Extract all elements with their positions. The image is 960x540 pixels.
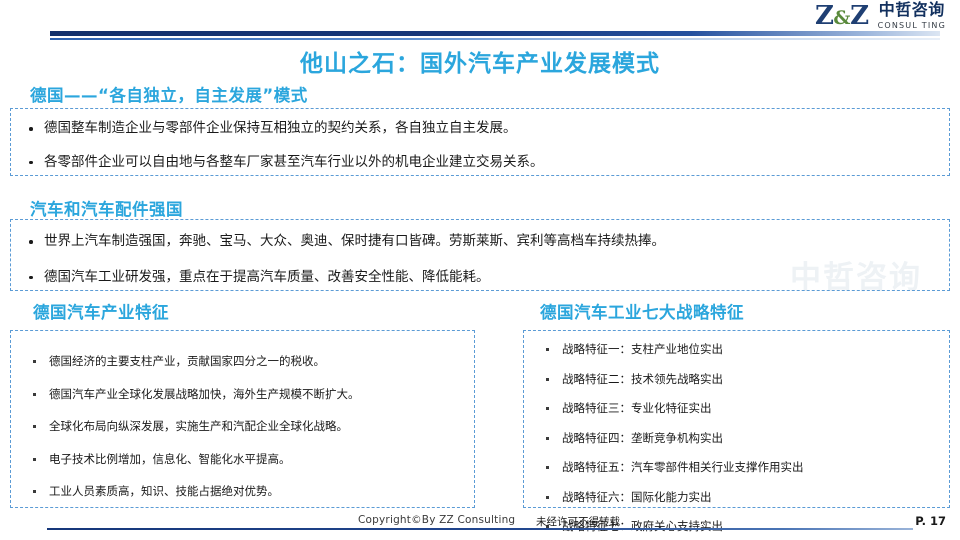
list-item: 战略特征四：垄断竞争机构实出 [542,433,949,445]
logo-zz-mark: Z&Z [815,2,869,29]
section-box-1: 德国整车制造企业与零部件企业保持互相独立的契约关系，各自独立自主发展。 各零部件… [10,108,950,176]
footer-copyright: Copyright©By ZZ Consulting [358,514,515,526]
logo-ampersand: & [833,7,850,29]
footer-notice: 未经许可不得转载 [536,514,620,529]
bullet-list-1: 德国整车制造企业与零部件企业保持互相独立的契约关系，各自独立自主发展。 各零部件… [26,122,949,169]
section-heading-1: 德国——“各自独立，自主发展”模式 [30,82,308,106]
footer-rule [47,528,913,530]
list-item: 德国整车制造企业与零部件企业保持互相独立的契约关系，各自独立自主发展。 [26,122,949,136]
logo-text-block: 中哲咨询 CONSUL TING [878,2,946,30]
list-item: 德国经济的主要支柱产业，贡献国家四分之一的税收。 [29,356,474,368]
list-item: 全球化布局向纵深发展，实施生产和汽配企业全球化战略。 [29,421,474,433]
list-item: 各零部件企业可以自由地与各整车厂家甚至汽车行业以外的机电企业建立交易关系。 [26,156,949,170]
list-item: 战略特征一：支柱产业地位实出 [542,344,949,356]
section-heading-3: 德国汽车产业特征 [33,299,169,323]
section-box-2: 世界上汽车制造强国，奔驰、宝马、大众、奥迪、保时捷有口皆碑。劳斯莱斯、宾利等高档… [10,219,950,291]
logo-company-name-en: CONSUL TING [878,21,946,30]
section-box-3: 德国经济的主要支柱产业，贡献国家四分之一的税收。 德国汽车产业全球化发展战略加快… [10,330,475,508]
list-item: 德国汽车产业全球化发展战略加快，海外生产规模不断扩大。 [29,389,474,401]
bullet-list-2: 世界上汽车制造强国，奔驰、宝马、大众、奥迪、保时捷有口皆碑。劳斯莱斯、宾利等高档… [26,235,949,284]
list-item: 德国汽车工业研发强，重点在于提高汽车质量、改善安全性能、降低能耗。 [26,271,949,285]
logo-letter-z1: Z [815,1,833,31]
section-box-4: 战略特征一：支柱产业地位实出 战略特征二：技术领先战略实出 战略特征三：专业化特… [523,330,950,508]
list-item: 战略特征二：技术领先战略实出 [542,374,949,386]
page-title: 他山之石：国外汽车产业发展模式 [0,44,960,78]
bullet-list-3: 德国经济的主要支柱产业，贡献国家四分之一的税收。 德国汽车产业全球化发展战略加快… [29,356,474,498]
logo-letter-z2: Z [850,1,868,31]
list-item: 战略特征五：汽车零部件相关行业支撑作用实出 [542,462,949,474]
list-item: 战略特征三：专业化特征实出 [542,403,949,415]
list-item: 工业人员素质高，知识、技能占据绝对优势。 [29,486,474,498]
section-heading-4: 德国汽车工业七大战略特征 [540,299,744,323]
section-heading-2: 汽车和汽车配件强国 [30,196,183,220]
list-item: 世界上汽车制造强国，奔驰、宝马、大众、奥迪、保时捷有口皆碑。劳斯莱斯、宾利等高档… [26,235,949,249]
brand-logo: Z&Z 中哲咨询 CONSUL TING [815,2,946,30]
slide-root: Z&Z 中哲咨询 CONSUL TING 他山之石：国外汽车产业发展模式 中哲咨… [0,0,960,540]
bullet-list-4: 战略特征一：支柱产业地位实出 战略特征二：技术领先战略实出 战略特征三：专业化特… [542,344,949,533]
logo-company-name-cn: 中哲咨询 [879,2,945,19]
list-item: 电子技术比例增加，信息化、智能化水平提高。 [29,454,474,466]
header-rule-secondary [50,38,940,40]
list-item: 战略特征六：国际化能力实出 [542,492,949,504]
page-number: P. 17 [915,514,946,528]
header-rule-primary [50,31,940,36]
